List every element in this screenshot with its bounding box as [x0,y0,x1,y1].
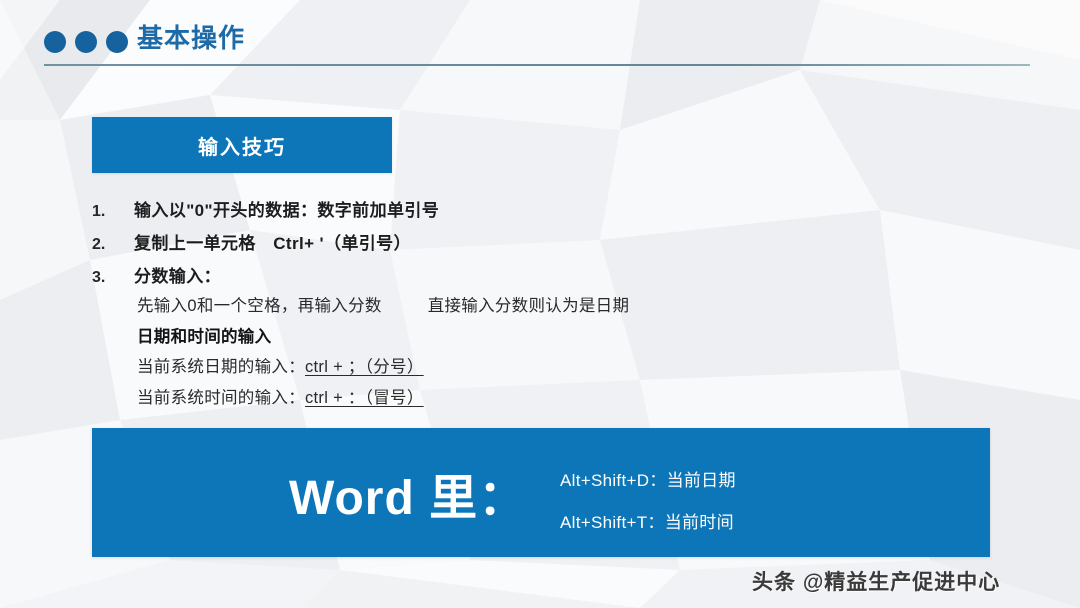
word-shortcuts-banner: Word 里： Alt+Shift+D：当前日期 Alt+Shift+T：当前时… [92,428,990,557]
list-item: 2. 复制上一单元格 Ctrl+ '（单引号） [92,229,952,254]
date-shortcut-label: 当前系统日期的输入： [137,353,305,377]
slide-canvas: 基本操作 输入技巧 1. 输入以"0"开头的数据：数字前加单引号 2. 复制上一… [0,0,1080,608]
list-item-number: 1. [92,203,134,221]
banner-title: Word 里： [289,458,527,528]
header-dot-icon [44,31,66,53]
date-shortcut-value: ctrl + ；（分号） [305,353,424,377]
datetime-subheading: 日期和时间的输入 [137,323,271,347]
list-item-number: 2. [92,236,134,254]
fraction-hint-left: 先输入0和一个空格，再输入分数 [137,292,382,316]
banner-shortcut-list: Alt+Shift+D：当前日期 Alt+Shift+T：当前时间 [560,466,736,550]
numbered-list: 1. 输入以"0"开头的数据：数字前加单引号 2. 复制上一单元格 Ctrl+ … [92,196,952,295]
banner-shortcut-item: Alt+Shift+T：当前时间 [560,508,736,533]
watermark: 头条 @精益生产促进中心 [752,566,1000,596]
header-dots-decoration [44,31,128,53]
page-title: 基本操作 [137,18,245,55]
list-item-label: 分数输入： [134,262,221,287]
section-title-label: 输入技巧 [198,131,286,160]
section-title-chip: 输入技巧 [92,117,392,173]
fraction-hint-row: 先输入0和一个空格，再输入分数 直接输入分数则认为是日期 [137,292,977,316]
list-item: 1. 输入以"0"开头的数据：数字前加单引号 [92,196,952,221]
date-shortcut-row: 当前系统日期的输入： ctrl + ；（分号） [137,353,977,377]
fraction-hint-right: 直接输入分数则认为是日期 [428,292,630,316]
banner-shortcut-item: Alt+Shift+D：当前日期 [560,466,736,491]
time-shortcut-label: 当前系统时间的输入： [137,384,305,408]
header-dot-icon [106,31,128,53]
datetime-subheading-row: 日期和时间的输入 [137,323,977,347]
list-item-label: 复制上一单元格 Ctrl+ '（单引号） [134,229,411,254]
header-dot-icon [75,31,97,53]
list-item-label: 输入以"0"开头的数据：数字前加单引号 [134,196,439,221]
time-shortcut-row: 当前系统时间的输入： ctrl + ：（冒号） [137,384,977,408]
time-shortcut-value: ctrl + ：（冒号） [305,384,424,408]
slide-header: 基本操作 [0,0,1080,75]
header-divider [44,64,1030,66]
list-item-number: 3. [92,269,134,287]
fraction-input-details: 先输入0和一个空格，再输入分数 直接输入分数则认为是日期 日期和时间的输入 当前… [137,292,977,413]
list-item: 3. 分数输入： [92,262,952,287]
